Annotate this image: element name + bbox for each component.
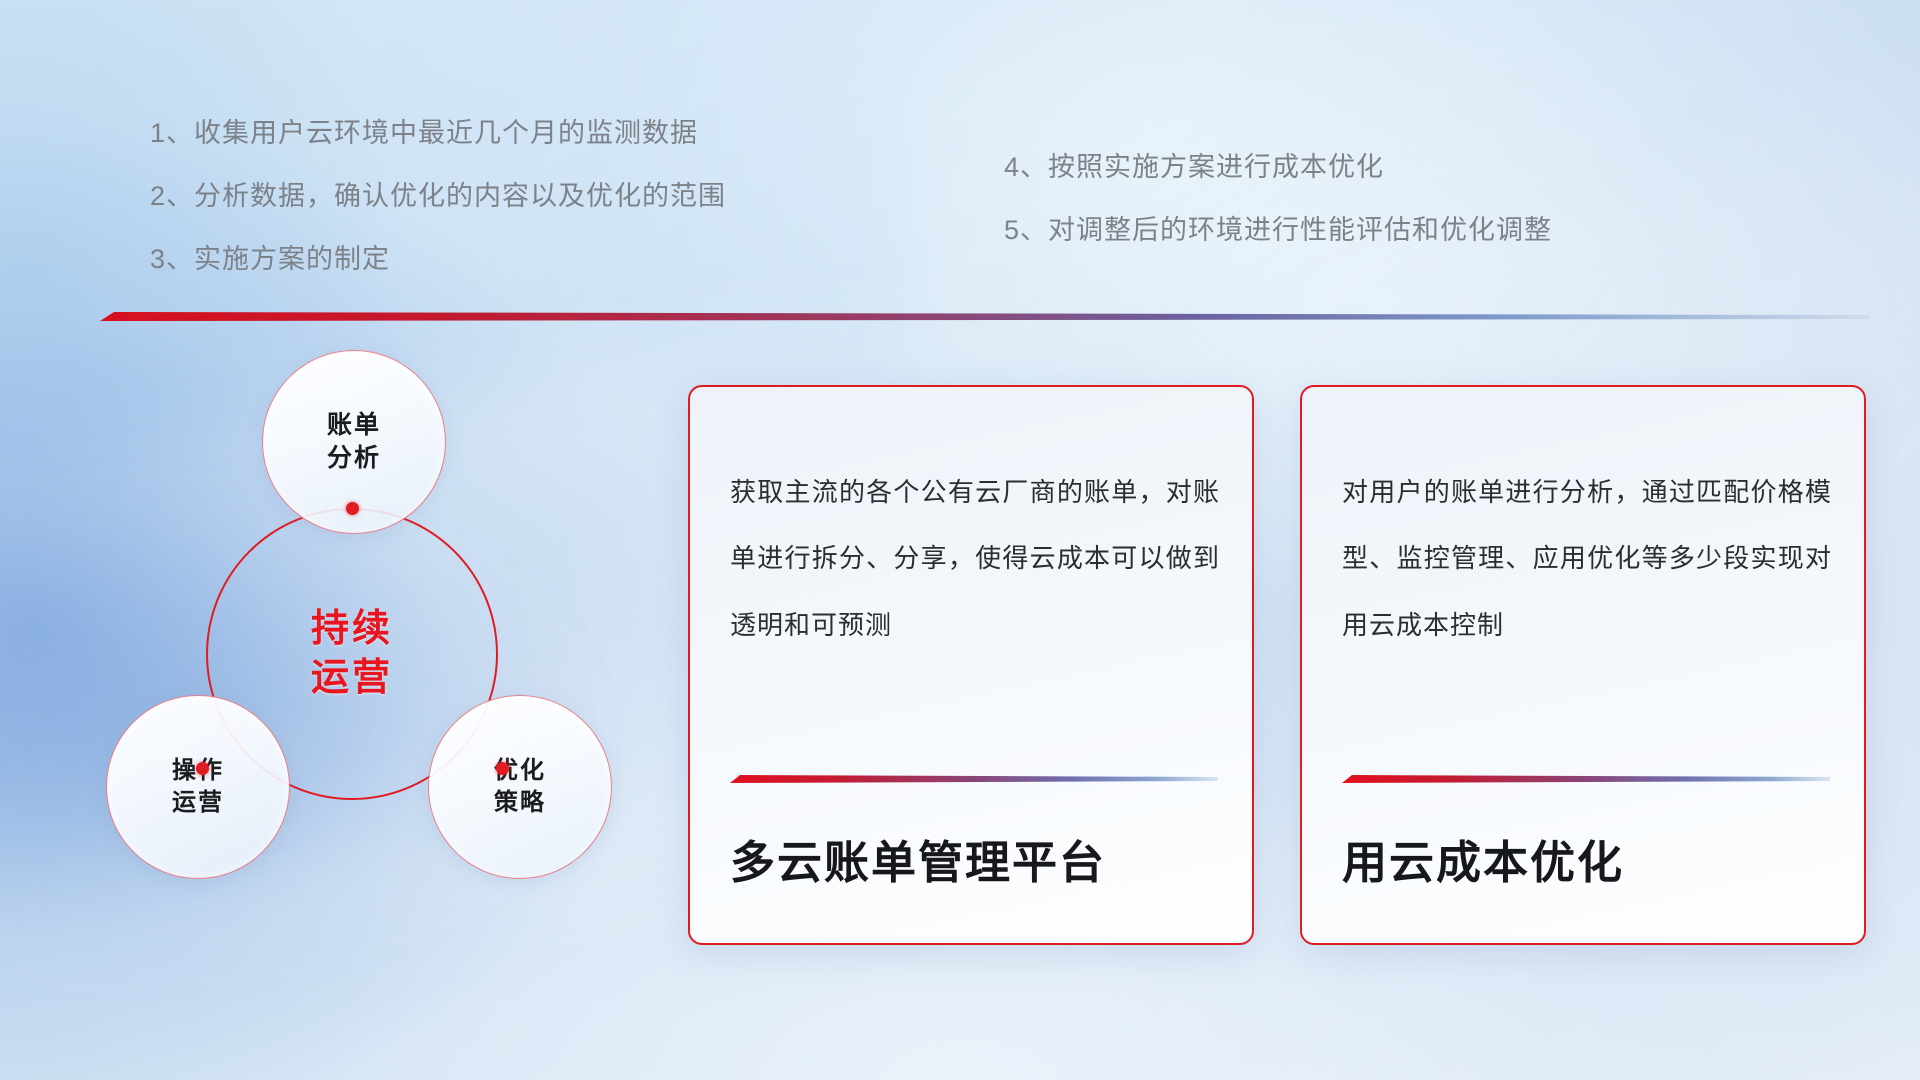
card-body-text: 对用户的账单进行分析，通过匹配价格模型、监控管理、应用优化等多少段实现对用云成本…	[1342, 459, 1832, 658]
center-label-line1: 持续	[311, 605, 393, 654]
steps-left-column: 1、收集用户云环境中最近几个月的监测数据 2、分析数据，确认优化的内容以及优化的…	[150, 120, 726, 273]
node-connector-dot-right-icon	[496, 762, 509, 775]
step-item-3: 3、实施方案的制定	[150, 246, 726, 273]
steps-right-column: 4、按照实施方案进行成本优化 5、对调整后的环境进行性能评估和优化调整	[1004, 154, 1552, 244]
step-item-4: 4、按照实施方案进行成本优化	[1004, 154, 1552, 181]
step-item-1: 1、收集用户云环境中最近几个月的监测数据	[150, 120, 726, 147]
card-cloud-cost-optimization[interactable]: 对用户的账单进行分析，通过匹配价格模型、监控管理、应用优化等多少段实现对用云成本…	[1300, 385, 1866, 945]
card-body-text: 获取主流的各个公有云厂商的账单，对账单进行拆分、分享，使得云成本可以做到透明和可…	[730, 459, 1220, 658]
card-title: 多云账单管理平台	[730, 826, 1106, 891]
center-label-line2: 运营	[311, 654, 393, 703]
step-item-2: 2、分析数据，确认优化的内容以及优化的范围	[150, 183, 726, 210]
diagram-node-operations[interactable]: 操作 运营	[106, 695, 290, 879]
node-label-line1: 账单	[327, 409, 381, 442]
card-title: 用云成本优化	[1342, 826, 1624, 891]
node-connector-dot-top-icon	[346, 502, 359, 515]
card-divider	[1342, 775, 1830, 783]
card-multicloud-billing[interactable]: 获取主流的各个公有云厂商的账单，对账单进行拆分、分享，使得云成本可以做到透明和可…	[688, 385, 1254, 945]
node-label-line2: 策略	[494, 787, 546, 819]
node-label-line2: 分析	[327, 442, 381, 475]
diagram-node-optimization-strategy[interactable]: 优化 策略	[428, 695, 612, 879]
step-item-5: 5、对调整后的环境进行性能评估和优化调整	[1004, 217, 1552, 244]
node-label-line2: 运营	[172, 787, 224, 819]
circle-diagram: 持续 运营 账单 分析 操作 运营 优化 策略	[88, 350, 648, 950]
header-divider	[100, 312, 1870, 321]
node-connector-dot-left-icon	[196, 762, 209, 775]
card-divider	[730, 775, 1218, 783]
slide-canvas: 1、收集用户云环境中最近几个月的监测数据 2、分析数据，确认优化的内容以及优化的…	[0, 0, 1920, 1080]
